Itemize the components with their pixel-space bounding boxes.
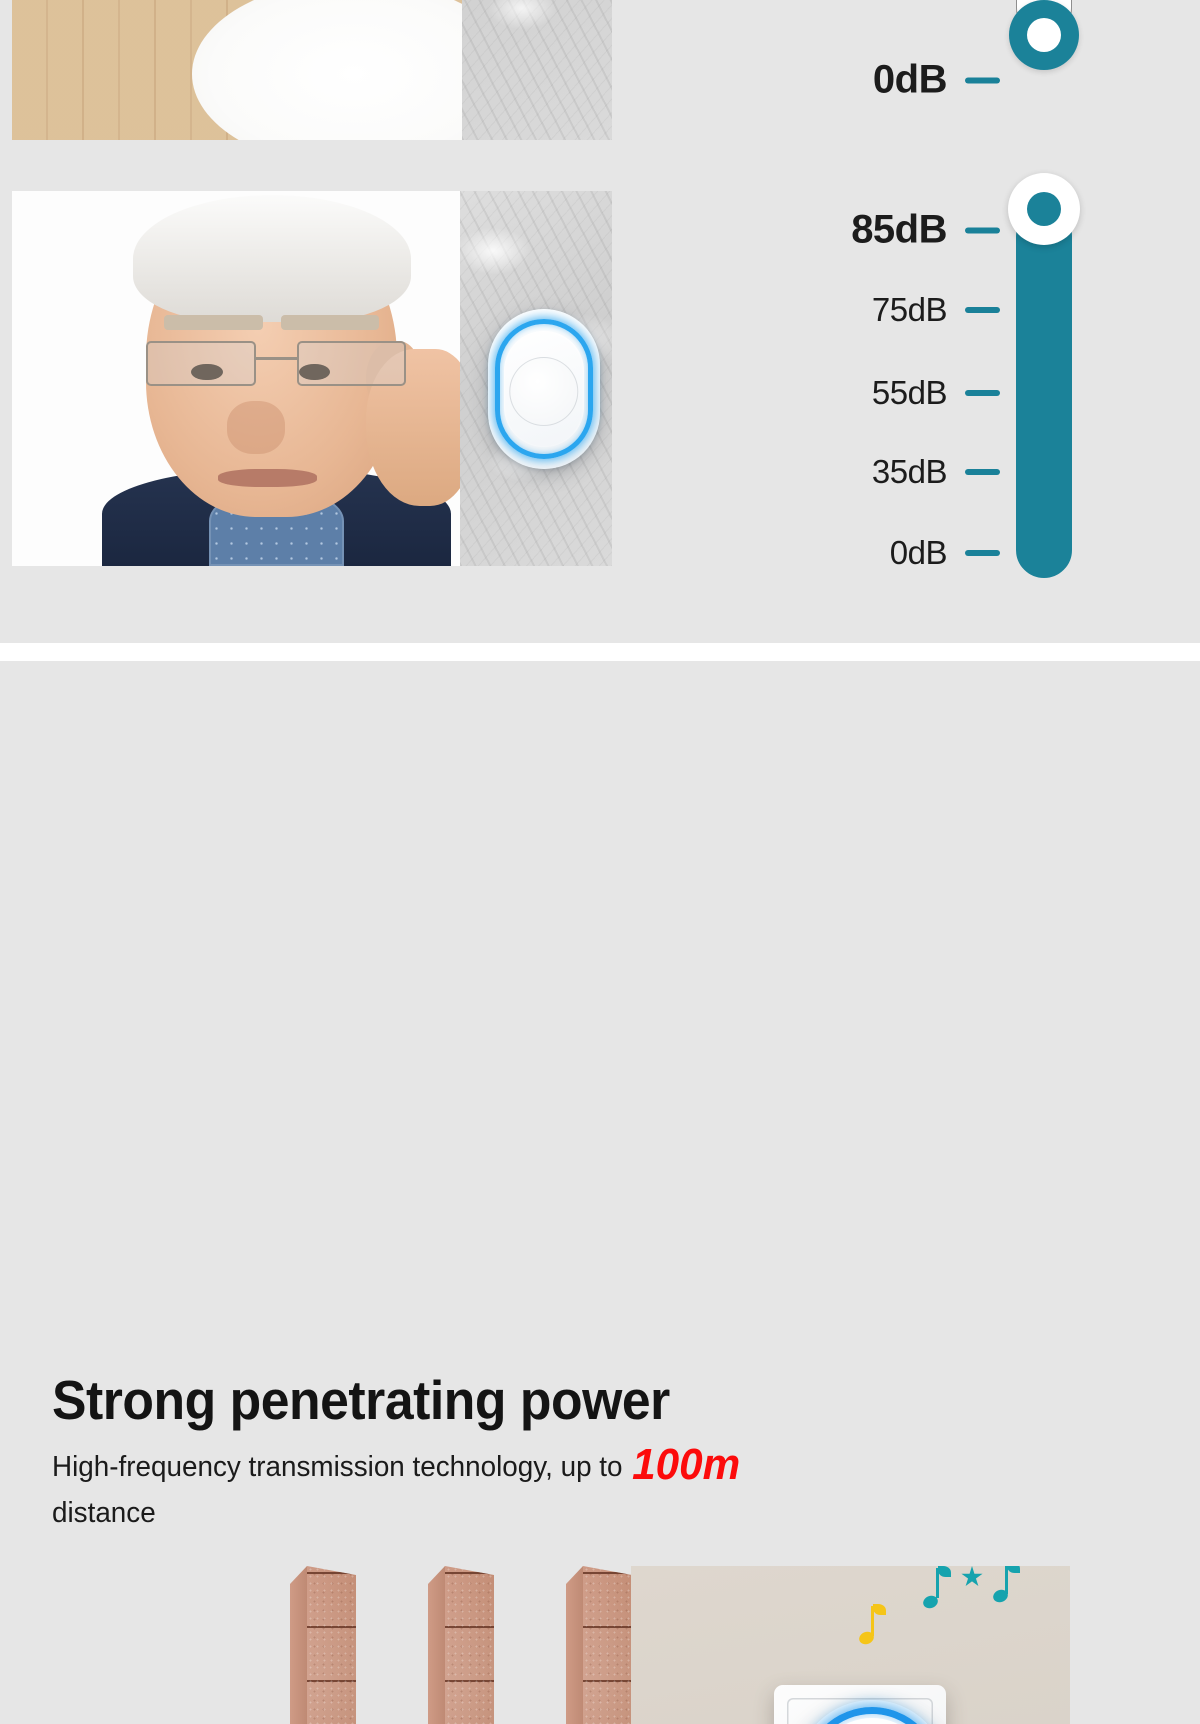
volume-slider-maximum[interactable]: 85dB 75dB 55dB 35dB 0dB [700, 188, 1170, 588]
eyebrow [281, 315, 380, 330]
wall-front-face [445, 1566, 494, 1724]
slider-level-0db[interactable]: 0dB [873, 58, 1000, 103]
slider-level-55db[interactable]: 55dB [872, 374, 1000, 412]
subtitle-text-before: High-frequency transmission technology, … [52, 1451, 623, 1483]
wall-side-face [566, 1566, 583, 1724]
wall-side-face [290, 1566, 307, 1724]
music-notes-group [841, 1566, 1070, 1674]
slider-level-label: 0dB [890, 534, 947, 572]
quiet-mode-row: 35dB 0dB [0, 0, 1200, 148]
slider-level-label: 35dB [872, 453, 947, 491]
slider-tick-icon [965, 77, 1000, 83]
mouth [218, 469, 317, 488]
wall-front-face [307, 1566, 356, 1724]
bedroom-scene [631, 1566, 1070, 1724]
lens [297, 341, 406, 386]
slider-track[interactable] [1016, 0, 1072, 36]
elderly-scene-photo-pair [12, 191, 612, 566]
dining-scene-photo-pair [12, 0, 612, 140]
slider-tick-icon [965, 550, 1000, 556]
dining-room-scene [12, 0, 462, 140]
lens [146, 341, 255, 386]
slider-track[interactable] [1016, 208, 1072, 578]
volume-slider-minimum[interactable]: 35dB 0dB [700, 0, 1170, 140]
device-on-marble-photo [460, 191, 612, 566]
slider-knob[interactable] [1009, 0, 1079, 70]
slider-level-label: 55dB [872, 374, 947, 412]
glasses-bridge [256, 357, 298, 360]
device-on-marble-photo [462, 0, 612, 140]
distance-highlight: 100m [623, 1440, 741, 1489]
slider-level-label: 0dB [873, 58, 947, 103]
slider-level-label: 85dB [851, 208, 947, 253]
slider-tick-icon [965, 469, 1000, 475]
family-dining-photo [12, 0, 462, 140]
wall-front-face [583, 1566, 632, 1724]
subtitle-text-after: distance [52, 1497, 156, 1529]
elderly-man-photo [12, 191, 460, 566]
brick-wall [290, 1566, 356, 1724]
slider-scale: 85dB 75dB 55dB 35dB 0dB [700, 188, 1000, 588]
slider-tick-icon [965, 390, 1000, 396]
section-divider [0, 643, 1200, 661]
eyeglasses-icon [146, 341, 406, 386]
slider-tick-icon [965, 307, 1000, 313]
slider-level-35db[interactable]: 35dB [872, 453, 1000, 491]
marble-wall-texture [462, 0, 612, 140]
page-title: Strong penetrating power [52, 1373, 670, 1428]
doorbell-device [488, 309, 600, 469]
elderly-man-portrait [12, 191, 460, 566]
brick-wall [566, 1566, 632, 1724]
transmission-illustration [0, 1566, 1200, 1724]
product-detail-page: 35dB 0dB [0, 0, 1200, 1724]
white-shag-rug [192, 0, 462, 140]
slider-knob[interactable] [1008, 173, 1080, 245]
white-hair [133, 195, 411, 323]
page-subtitle: High-frequency transmission technology, … [52, 1443, 964, 1537]
slider-level-75db[interactable]: 75dB [872, 291, 1000, 329]
slider-tick-icon [965, 227, 1000, 233]
slider-scale: 35dB 0dB [700, 0, 1000, 140]
loud-mode-row: 85dB 75dB 55dB 35dB 0dB [0, 148, 1200, 643]
sparkle-star-icon [961, 1566, 983, 1588]
slider-level-0db[interactable]: 0dB [890, 534, 1000, 572]
slider-level-label: 75dB [872, 291, 947, 329]
penetrating-power-section: Strong penetrating power High-frequency … [0, 661, 1200, 1724]
nose [227, 401, 285, 454]
wall-side-face [428, 1566, 445, 1724]
brick-wall [428, 1566, 494, 1724]
eyebrow [164, 315, 263, 330]
slider-level-85db[interactable]: 85dB [851, 208, 1000, 253]
